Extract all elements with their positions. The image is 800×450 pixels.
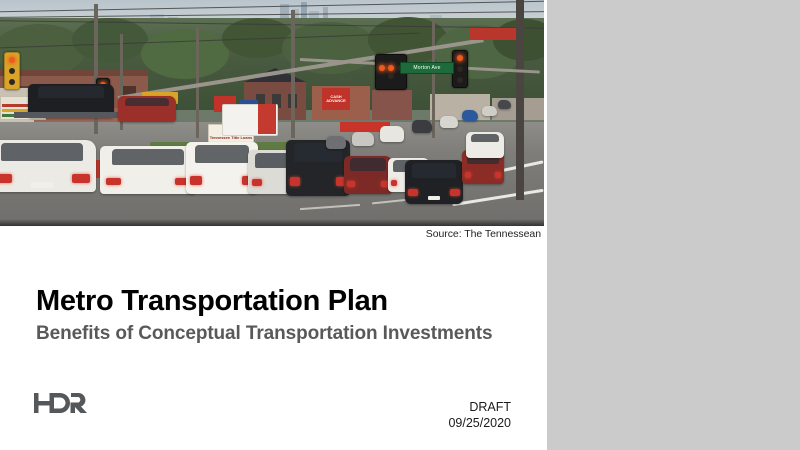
vehicle-tail-light <box>252 179 262 186</box>
vehicle-rear-window <box>112 149 185 165</box>
vehicle-tail-light <box>450 189 459 196</box>
vehicle-rear-window <box>195 145 250 163</box>
photo-source-caption: Source: The Tennessean <box>426 228 541 240</box>
vehicle-windshield <box>125 98 169 107</box>
vehicle-license-plate <box>138 185 157 190</box>
title-slide: Morton Ave Tennessee Title Loans CASH AD… <box>0 0 547 450</box>
vehicle-sedan-white-3 <box>466 132 504 158</box>
vehicle-tail-light <box>495 172 502 177</box>
street-name-sign: Morton Ave <box>400 62 454 74</box>
draft-date: 09/25/2020 <box>448 416 511 432</box>
vehicle-tail-light <box>190 176 202 184</box>
draft-label: DRAFT <box>448 400 511 416</box>
signal-lamp-red <box>388 65 394 71</box>
billboard-far <box>470 28 516 40</box>
vehicle-distant <box>462 110 478 121</box>
vehicle-rear-window <box>1 143 83 161</box>
vehicle-windshield <box>38 86 103 98</box>
box-truck-graphic <box>258 104 276 134</box>
utility-pole <box>291 10 295 138</box>
vehicle-sedan-white-2 <box>100 146 196 194</box>
vehicle-tail-light <box>347 181 355 187</box>
traffic-signal-right <box>452 50 468 88</box>
hero-photo-traffic-congestion: Morton Ave Tennessee Title Loans CASH AD… <box>0 0 544 226</box>
title-block: Metro Transportation Plan Benefits of Co… <box>36 285 526 345</box>
vehicle-distant <box>380 126 404 142</box>
hdr-logo <box>34 392 90 416</box>
traffic-signal-left <box>4 52 20 90</box>
vehicle-tail-light <box>408 189 417 196</box>
vehicle-rear-window <box>471 134 500 143</box>
utility-pole <box>516 0 524 200</box>
signal-lamp-yellow <box>457 66 463 72</box>
vehicle-sedan-white-1 <box>0 140 96 192</box>
vehicle-distant <box>482 106 497 116</box>
signal-lamp-yellow <box>9 68 15 74</box>
vehicle-tail-light <box>465 172 472 177</box>
roadside-sign-cash-advance: CASH ADVANCE <box>322 88 350 110</box>
vehicle-tail-light <box>0 174 12 182</box>
slide-subtitle: Benefits of Conceptual Transportation In… <box>36 323 526 345</box>
vehicle-sedan-red <box>118 96 176 122</box>
vehicle-rear-window <box>412 163 456 178</box>
vehicle-distant <box>412 120 432 133</box>
vehicle-sedan-black-lead <box>405 160 463 204</box>
signal-lamp-red <box>9 57 15 63</box>
presentation-viewport: Morton Ave Tennessee Title Loans CASH AD… <box>0 0 800 450</box>
utility-pole <box>432 20 435 138</box>
signal-lamp-green <box>457 77 463 83</box>
slide-title: Metro Transportation Plan <box>36 285 526 317</box>
photo-bottom-shadow <box>0 219 544 226</box>
vehicle-tail-light <box>72 174 89 182</box>
draft-stamp: DRAFT 09/25/2020 <box>448 400 511 431</box>
workspace-background <box>547 0 800 450</box>
vehicle-tail-light <box>391 180 398 185</box>
signal-lamp-green <box>388 73 394 79</box>
signal-lamp-red <box>457 55 463 61</box>
signal-lamp-green <box>9 79 15 85</box>
vehicle-distant <box>352 132 374 146</box>
car-transporter-deck <box>14 112 134 118</box>
vehicle-distant <box>440 116 458 128</box>
vehicle-sedan-maroon <box>344 156 392 194</box>
vehicle-distant <box>326 136 346 149</box>
vehicle-license-plate <box>428 196 440 201</box>
vehicle-tail-light <box>290 177 300 186</box>
signal-lamp-red <box>379 65 385 71</box>
hdr-logo-mark <box>34 392 90 414</box>
vehicle-distant <box>498 100 511 109</box>
vehicle-tail-light <box>106 178 121 186</box>
vehicle-rear-window <box>350 158 387 171</box>
vehicle-license-plate <box>31 182 53 188</box>
